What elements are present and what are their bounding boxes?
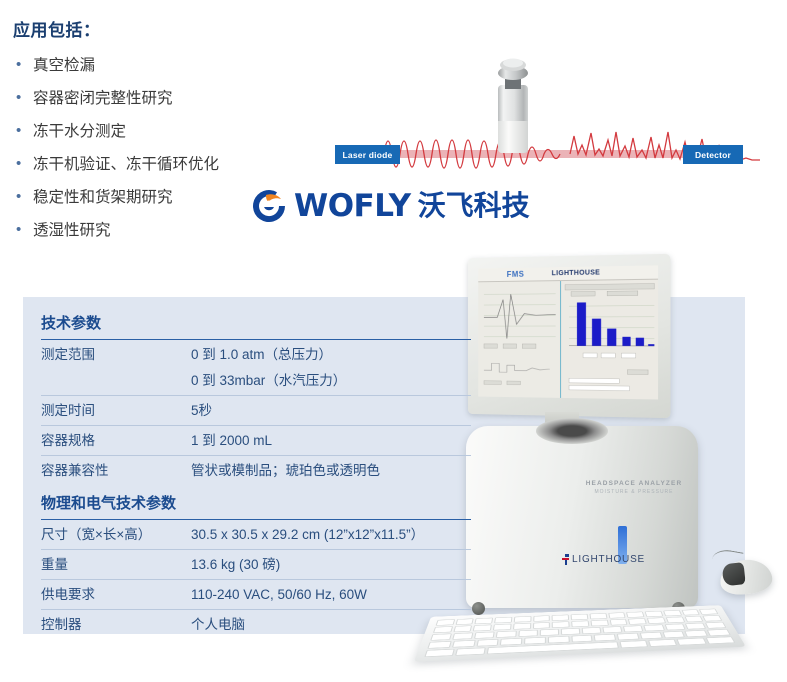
key xyxy=(594,634,616,641)
key xyxy=(514,616,532,622)
key xyxy=(609,619,627,626)
page-title: 应用包括： xyxy=(13,16,101,41)
laser-detector-diagram: Laser diode Detector xyxy=(322,42,782,192)
bullet-icon: • xyxy=(13,88,33,108)
key xyxy=(496,631,516,638)
waveform-pane xyxy=(478,281,560,398)
list-item: • 真空检漏 xyxy=(13,55,343,75)
table-row: 容器兼容性 管状或模制品；琥珀色或透明色 xyxy=(41,456,471,485)
logo-wordmark: WOFLY xyxy=(294,191,411,222)
spec-value: 5秒 xyxy=(191,401,212,420)
key xyxy=(623,625,644,632)
key xyxy=(513,623,531,630)
key xyxy=(518,630,538,637)
bullet-icon: • xyxy=(13,187,33,207)
key xyxy=(474,632,495,639)
key xyxy=(582,627,602,634)
spec-table: 技术参数 测定范围 0 到 1.0 atm（总压力） 0 到 33mbar（水汽… xyxy=(41,308,471,639)
spec-section-title: 技术参数 xyxy=(41,308,471,340)
key xyxy=(617,633,640,640)
key xyxy=(452,640,476,648)
spec-key: 重量 xyxy=(41,555,191,574)
monitor-screen: FMS LIGHTHOUSE xyxy=(478,265,658,399)
key xyxy=(707,629,731,636)
logo-chinese-name: 沃飞科技 xyxy=(418,192,530,220)
device-labels: HEADSPACE ANALYZER MOISTURE & PRESSURE xyxy=(574,480,694,495)
table-row: 控制器 个人电脑 xyxy=(41,610,471,639)
wofly-circle-mark xyxy=(249,186,289,226)
bullet-icon: • xyxy=(13,55,33,75)
key xyxy=(476,639,499,647)
detector-label: Detector xyxy=(683,145,743,164)
key xyxy=(552,621,570,628)
spec-value: 管状或模制品；琥珀色或透明色 xyxy=(191,461,380,480)
key xyxy=(677,638,707,646)
key xyxy=(685,630,709,637)
key xyxy=(684,616,704,622)
key xyxy=(681,609,700,615)
key xyxy=(427,641,451,649)
spec-value: 个人电脑 xyxy=(191,615,245,634)
spec-section-title: 物理和电气技术参数 xyxy=(41,485,471,520)
key xyxy=(663,610,682,616)
table-row: 测定时间 5秒 xyxy=(41,396,471,426)
spec-value: 1 到 2000 mL xyxy=(191,431,272,450)
key xyxy=(533,615,550,621)
spec-key: 容器规格 xyxy=(41,431,191,450)
table-row: 尺寸（宽×长×高） 30.5 x 30.5 x 29.2 cm (12”x12”… xyxy=(41,520,471,550)
key xyxy=(475,618,494,624)
bullet-icon: • xyxy=(13,220,33,240)
list-item: • 冻干机验证、冻干循环优化 xyxy=(13,154,343,174)
key xyxy=(664,624,685,631)
list-item-label: 容器密闭完整性研究 xyxy=(33,88,173,108)
spec-key: 尺寸（宽×长×高） xyxy=(41,525,191,544)
key xyxy=(571,635,593,642)
key xyxy=(666,617,685,623)
table-row: 0 到 33mbar（水汽压力） xyxy=(41,366,471,396)
device-foot xyxy=(472,602,485,615)
table-row: 测定范围 0 到 1.0 atm（总压力） xyxy=(41,340,471,366)
key xyxy=(602,626,622,633)
list-item-label: 冻干机验证、冻干循环优化 xyxy=(33,154,219,174)
software-title-fms: FMS xyxy=(507,270,525,279)
key xyxy=(589,613,607,619)
key xyxy=(540,629,559,636)
key xyxy=(455,647,485,655)
key xyxy=(493,624,511,631)
key xyxy=(494,617,512,623)
key xyxy=(590,620,608,627)
headspace-analyzer-body: HEADSPACE ANALYZER MOISTURE & PRESSURE L… xyxy=(466,426,698,608)
key xyxy=(705,622,727,629)
key xyxy=(561,628,581,635)
key xyxy=(628,618,647,624)
key xyxy=(705,636,735,644)
table-row: 容器规格 1 到 2000 mL xyxy=(41,426,471,456)
key xyxy=(644,624,665,631)
bullet-icon: • xyxy=(13,121,33,141)
mouse-button[interactable] xyxy=(722,562,746,586)
spec-key: 测定时间 xyxy=(41,401,191,420)
list-item-label: 稳定性和货架期研究 xyxy=(33,187,173,207)
lighthouse-mark-icon xyxy=(562,554,570,565)
key xyxy=(648,639,677,647)
list-item-label: 透湿性研究 xyxy=(33,220,111,240)
wofly-logo: WOFLY 沃飞科技 xyxy=(249,186,530,226)
key xyxy=(500,638,522,646)
monitor: FMS LIGHTHOUSE xyxy=(468,254,671,418)
key xyxy=(552,615,569,621)
key xyxy=(662,631,685,638)
spec-key: 供电要求 xyxy=(41,585,191,604)
key xyxy=(619,640,648,648)
key xyxy=(703,615,723,621)
spec-value: 110-240 VAC, 50/60 Hz, 60W xyxy=(191,585,367,604)
spec-value: 30.5 x 30.5 x 29.2 cm (12”x12”x11.5”） xyxy=(191,525,424,544)
key xyxy=(626,612,644,618)
software-body xyxy=(478,280,658,400)
device-brand-logo: LIGHTHOUSE xyxy=(562,554,645,565)
key xyxy=(699,609,718,615)
vial-illustration xyxy=(487,55,539,159)
key xyxy=(608,612,626,618)
device-subtitle: MOISTURE & PRESSURE xyxy=(574,489,694,495)
software-title-lighthouse: LIGHTHOUSE xyxy=(552,269,601,277)
key xyxy=(647,617,666,623)
list-item: • 容器密闭完整性研究 xyxy=(13,88,343,108)
table-row: 重量 13.6 kg (30 磅) xyxy=(41,550,471,580)
table-row: 供电要求 110-240 VAC, 50/60 Hz, 60W xyxy=(41,580,471,610)
key xyxy=(524,637,546,644)
spec-key: 容器兼容性 xyxy=(41,461,191,480)
key xyxy=(571,614,589,620)
list-item-label: 真空检漏 xyxy=(33,55,95,75)
list-item-label: 冻干水分测定 xyxy=(33,121,126,141)
spec-value: 0 到 1.0 atm（总压力） xyxy=(191,345,332,364)
key xyxy=(533,622,551,629)
sample-port xyxy=(536,418,608,444)
key xyxy=(571,621,589,628)
slide-page: 应用包括： • 真空检漏 • 容器密闭完整性研究 • 冻干水分测定 • 冻干机验… xyxy=(0,0,787,682)
key xyxy=(424,649,455,657)
device-brand-label: LIGHTHOUSE xyxy=(572,554,645,565)
key xyxy=(645,611,664,617)
key xyxy=(548,636,570,643)
spec-key: 控制器 xyxy=(41,615,191,634)
product-photo: FMS LIGHTHOUSE xyxy=(420,250,787,682)
laser-diode-label: Laser diode xyxy=(335,145,400,164)
chart-pane xyxy=(561,280,658,400)
spec-value: 13.6 kg (30 磅) xyxy=(191,555,280,574)
key xyxy=(685,623,706,630)
key xyxy=(473,625,492,632)
bullet-icon: • xyxy=(13,154,33,174)
list-item: • 冻干水分测定 xyxy=(13,121,343,141)
device-title: HEADSPACE ANALYZER xyxy=(574,480,694,487)
key xyxy=(640,632,663,639)
laser-wave-graphic xyxy=(322,42,782,192)
spec-value: 0 到 33mbar（水汽压力） xyxy=(191,371,346,390)
spec-key: 测定范围 xyxy=(41,345,191,364)
